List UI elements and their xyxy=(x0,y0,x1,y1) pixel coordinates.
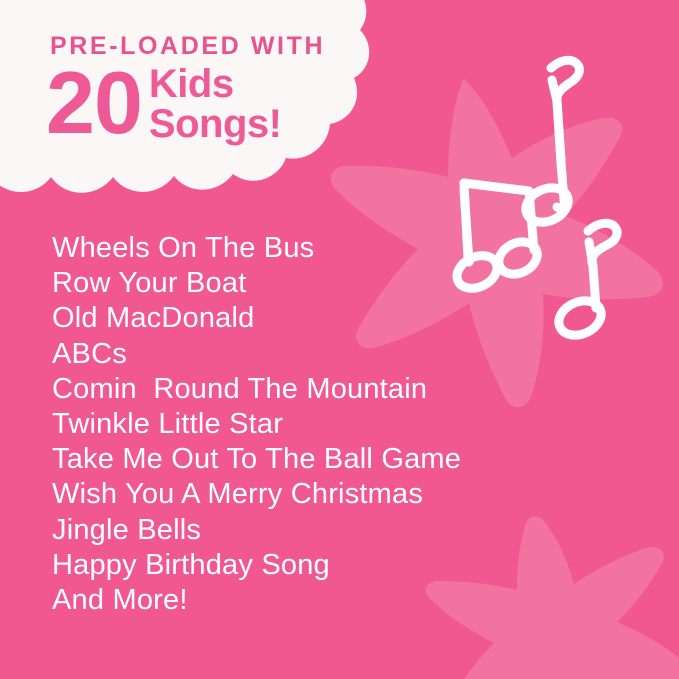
list-item: Row Your Boat xyxy=(52,266,652,301)
count-suffix: Kids Songs! xyxy=(149,60,282,144)
list-item: Jingle Bells xyxy=(52,513,652,548)
list-item: Twinkle Little Star xyxy=(52,407,652,442)
song-list: Wheels On The Bus Row Your Boat Old MacD… xyxy=(52,231,652,618)
count-suffix-line2: Songs! xyxy=(149,105,282,145)
list-item: And More! xyxy=(52,583,652,618)
list-item: Comin Round The Mountain xyxy=(52,372,652,407)
promo-poster: PRE-LOADED WITH 20 Kids Songs! Wheels On… xyxy=(0,0,679,679)
headline-block: PRE-LOADED WITH 20 Kids Songs! xyxy=(0,0,380,200)
list-item: Old MacDonald xyxy=(52,301,652,336)
list-item: Wheels On The Bus xyxy=(52,231,652,266)
count-suffix-line1: Kids xyxy=(149,65,282,105)
count-row: 20 Kids Songs! xyxy=(46,60,281,145)
list-item: ABCs xyxy=(52,337,652,372)
list-item: Take Me Out To The Ball Game xyxy=(52,442,652,477)
list-item: Happy Birthday Song xyxy=(52,548,652,583)
song-count-number: 20 xyxy=(46,60,142,145)
list-item: Wish You A Merry Christmas xyxy=(52,477,652,512)
eighth-note-icon-top xyxy=(520,60,579,228)
